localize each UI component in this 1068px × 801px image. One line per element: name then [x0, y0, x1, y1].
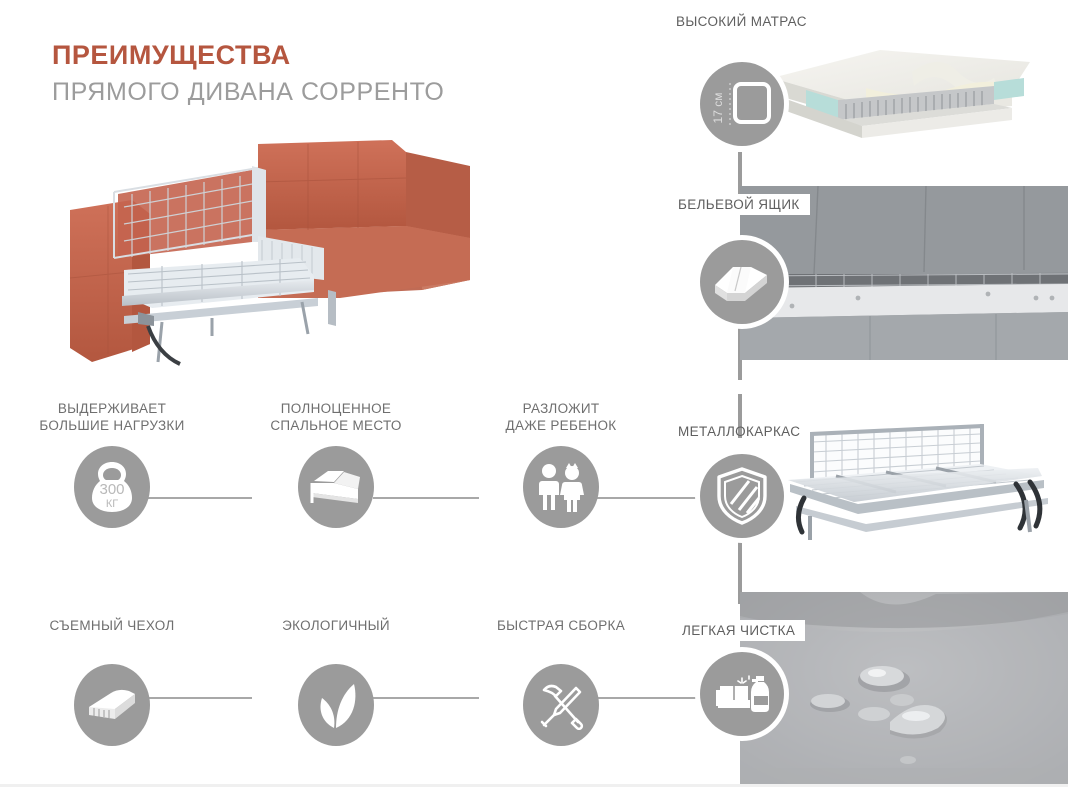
feature-full-sleeping-place[interactable]: ПОЛНОЦЕННОЕ СПАЛЬНОЕ МЕСТО [241, 400, 431, 528]
leaves-icon [298, 664, 374, 746]
panel-label-linen-drawer: БЕЛЬЕВОЙ ЯЩИК [668, 194, 810, 215]
feature-label: ПОЛНОЦЕННОЕ [241, 400, 431, 417]
feature-heavy-load[interactable]: ВЫДЕРЖИВАЕТ БОЛЬШИЕ НАГРУЗКИ 300 КГ [17, 400, 207, 528]
sofa-spray-icon [700, 652, 784, 736]
shield-icon [700, 454, 784, 538]
panel-label-easy-cleaning: ЛЕГКАЯ ЧИСТКА [672, 620, 805, 641]
title-primary: ПРЕИМУЩЕСТВА [52, 38, 444, 72]
title-secondary: ПРЯМОГО ДИВАНА СОРРЕНТО [52, 75, 444, 109]
feature-fast-assembly[interactable]: БЫСТРАЯ СБОРКА [466, 617, 656, 746]
mattress-cover-icon [74, 664, 150, 746]
bed-icon [298, 446, 374, 528]
bottom-divider [0, 784, 1068, 787]
infographic-canvas: ПРЕИМУЩЕСТВА ПРЯМОГО ДИВАНА СОРРЕНТО [0, 0, 1068, 801]
feature-label: ЭКОЛОГИЧНЫЙ [241, 617, 431, 634]
feature-easy-unfold[interactable]: РАЗЛОЖИТ ДАЖЕ РЕБЕНОК [466, 400, 656, 528]
feature-label: СПАЛЬНОЕ МЕСТО [241, 417, 431, 434]
feature-label: РАЗЛОЖИТ [466, 400, 656, 417]
children-icon [523, 446, 599, 528]
panel-label-high-mattress: ВЫСОКИЙ МАТРАС [676, 14, 807, 29]
feature-removable-cover[interactable]: СЪЕМНЫЙ ЧЕХОЛ [17, 617, 207, 746]
feature-label: БЫСТРАЯ СБОРКА [466, 617, 656, 634]
mattress-cutaway-photo [762, 42, 1064, 147]
feature-label: ВЫДЕРЖИВАЕТ [17, 400, 207, 417]
feature-eco-friendly[interactable]: ЭКОЛОГИЧНЫЙ [241, 617, 431, 746]
feature-label: СЪЕМНЫЙ ЧЕХОЛ [17, 617, 207, 634]
feature-label: БОЛЬШИЕ НАГРУЗКИ [17, 417, 207, 434]
kettlebell-weight-unit: КГ [106, 498, 118, 510]
page-title: ПРЕИМУЩЕСТВА ПРЯМОГО ДИВАНА СОРРЕНТО [52, 38, 444, 109]
metal-frame-photo [780, 420, 1068, 580]
mattress-height-icon: 17 см [700, 62, 784, 146]
linen-drawer-icon [700, 240, 784, 324]
feature-label: ДАЖЕ РЕБЕНОК [466, 417, 656, 434]
kettlebell-weight-value: 300 [99, 481, 124, 498]
sofa-hero-image [62, 130, 482, 380]
mattress-height-value: 17 см [711, 93, 725, 124]
hammer-screwdriver-icon [523, 664, 599, 746]
kettlebell-icon: 300 КГ [74, 446, 150, 528]
